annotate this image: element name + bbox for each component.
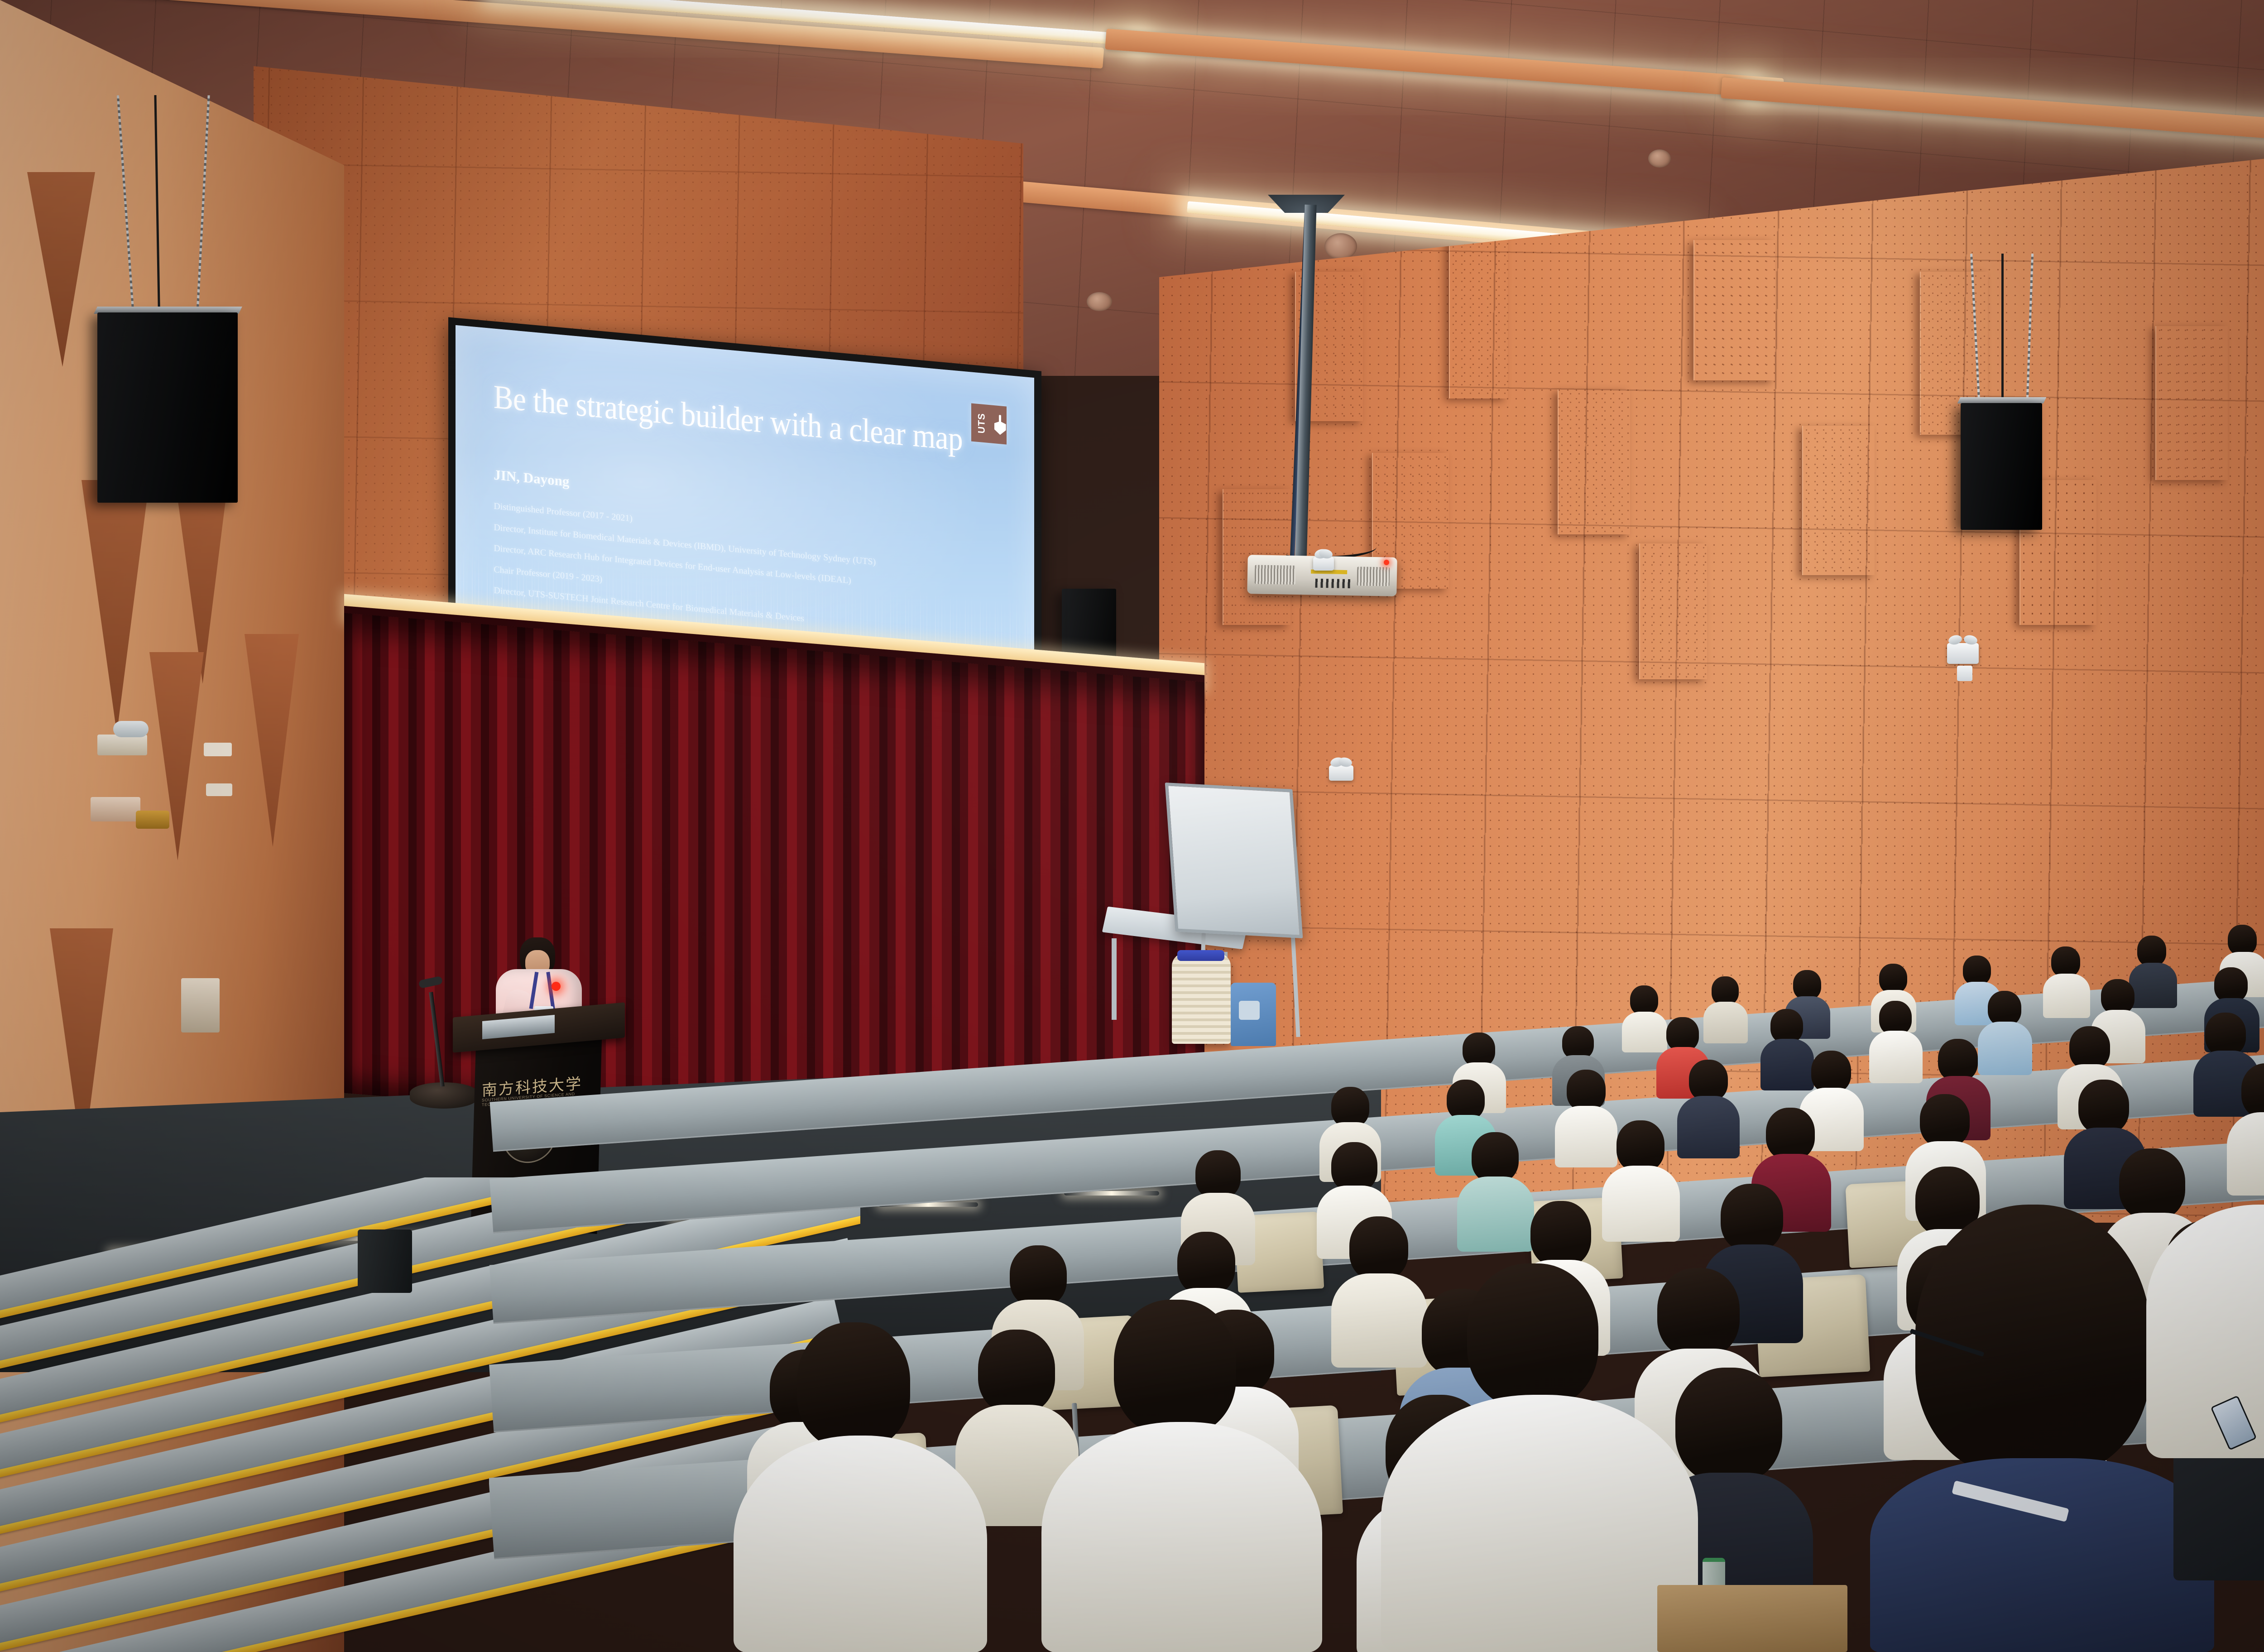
shelf-object bbox=[204, 743, 232, 756]
projector-vent bbox=[1255, 565, 1296, 585]
acoustic-wedge bbox=[149, 652, 204, 860]
lecture-hall-photo: Be the strategic builder with a clear ma… bbox=[0, 0, 2264, 1652]
audience-member-foreground bbox=[734, 1322, 1014, 1652]
ceiling-smoke-detector bbox=[1087, 292, 1112, 311]
acoustic-block bbox=[1639, 543, 1707, 679]
speaker-top-plate bbox=[1957, 397, 2047, 403]
acoustic-block bbox=[1802, 426, 1875, 575]
slide-title: Be the strategic builder with a clear ma… bbox=[494, 380, 963, 456]
slide-presenter-name: JIN, Dayong bbox=[494, 466, 569, 490]
emergency-light bbox=[1947, 643, 1979, 664]
uts-logo-text: UTS bbox=[976, 413, 987, 434]
ceiling-smoke-detector bbox=[1324, 233, 1357, 259]
shelf-object bbox=[113, 721, 149, 737]
speaker-left bbox=[97, 312, 251, 525]
waste-bin bbox=[358, 1229, 412, 1293]
desk-tablet bbox=[1657, 1585, 1847, 1652]
acoustic-block bbox=[1693, 240, 1775, 380]
shelf-object bbox=[97, 735, 147, 755]
ceiling-smoke-detector bbox=[1648, 149, 1671, 168]
shelf-object bbox=[91, 797, 140, 821]
wall-outlet bbox=[1957, 666, 1972, 681]
shelf-object bbox=[136, 811, 169, 829]
acoustic-wedge bbox=[245, 634, 299, 847]
speaker-cabinet bbox=[1961, 403, 2042, 530]
uts-logo: UTS bbox=[971, 403, 1007, 444]
audience-member-foreground bbox=[1041, 1300, 1358, 1652]
emergency-light bbox=[1313, 557, 1334, 571]
projector-status-led bbox=[1384, 560, 1389, 565]
emergency-light bbox=[1329, 765, 1353, 781]
acoustic-block bbox=[1558, 389, 1630, 534]
projector-vent bbox=[1357, 567, 1390, 586]
speaker-right bbox=[1961, 403, 2051, 548]
acoustic-wedge bbox=[27, 172, 95, 367]
projector-ports bbox=[1315, 579, 1352, 588]
acoustic-block bbox=[2155, 326, 2228, 480]
uts-shield-icon bbox=[994, 414, 1006, 435]
speaker-wire bbox=[2001, 254, 2004, 408]
speaker-cabinet bbox=[97, 312, 238, 503]
shelf-object bbox=[181, 978, 220, 1032]
shelf-object bbox=[206, 783, 232, 796]
